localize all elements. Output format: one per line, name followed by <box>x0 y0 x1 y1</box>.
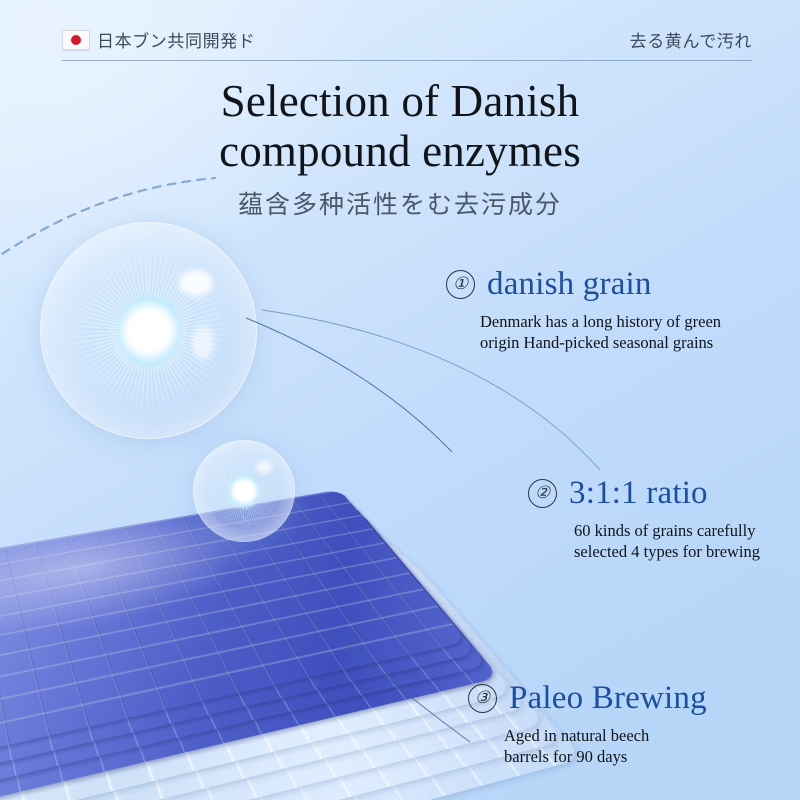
header-bar: 日本ブン共同開発ド 去る黄んで汚れ <box>0 0 800 68</box>
feature-3-number: ③ <box>468 684 497 713</box>
large-enzyme-bubble <box>40 222 257 439</box>
page-title-line-1: Selection of Danish <box>0 76 800 126</box>
header-right-text: 去る黄んで汚れ <box>630 27 752 52</box>
page-subtitle: 蕴含多种活性をむ去污成分 <box>0 190 800 220</box>
small-enzyme-bubble <box>193 440 295 542</box>
product-artwork <box>0 250 520 800</box>
feature-1-description: Denmark has a long history of green orig… <box>480 311 721 353</box>
feature-1-heading: ① danish grain <box>446 266 721 302</box>
bubble-highlight <box>179 270 213 296</box>
japan-flag-icon <box>62 30 90 50</box>
feature-item-1: ① danish grain Denmark has a long histor… <box>446 266 721 353</box>
title-block: Selection of Danish compound enzymes 蕴含多… <box>0 76 800 220</box>
feature-3-title: Paleo Brewing <box>509 680 707 716</box>
bubble-core <box>229 474 259 508</box>
bubble-highlight <box>256 461 272 473</box>
feature-3-heading: ③ Paleo Brewing <box>468 680 707 716</box>
feature-item-3: ③ Paleo Brewing Aged in natural beech ba… <box>468 680 707 767</box>
feature-2-description: 60 kinds of grains carefully selected 4 … <box>574 520 760 562</box>
feature-1-title: danish grain <box>487 266 652 302</box>
header-left-text: 日本ブン共同開発ド <box>97 27 255 52</box>
page-title-line-2: compound enzymes <box>0 126 800 176</box>
feature-3-description: Aged in natural beech barrels for 90 day… <box>504 725 707 767</box>
bubble-core <box>116 294 181 367</box>
bubble-highlight <box>192 326 214 360</box>
header-divider <box>62 60 752 61</box>
header-left-group: 日本ブン共同開発ド <box>62 27 255 52</box>
feature-item-2: ② 3:1:1 ratio 60 kinds of grains careful… <box>528 475 760 562</box>
feature-1-number: ① <box>446 270 475 299</box>
feature-2-title: 3:1:1 ratio <box>569 475 708 511</box>
feature-2-number: ② <box>528 479 557 508</box>
feature-2-heading: ② 3:1:1 ratio <box>528 475 760 511</box>
product-infographic: 日本ブン共同開発ド 去る黄んで汚れ Selection of Danish co… <box>0 0 800 800</box>
